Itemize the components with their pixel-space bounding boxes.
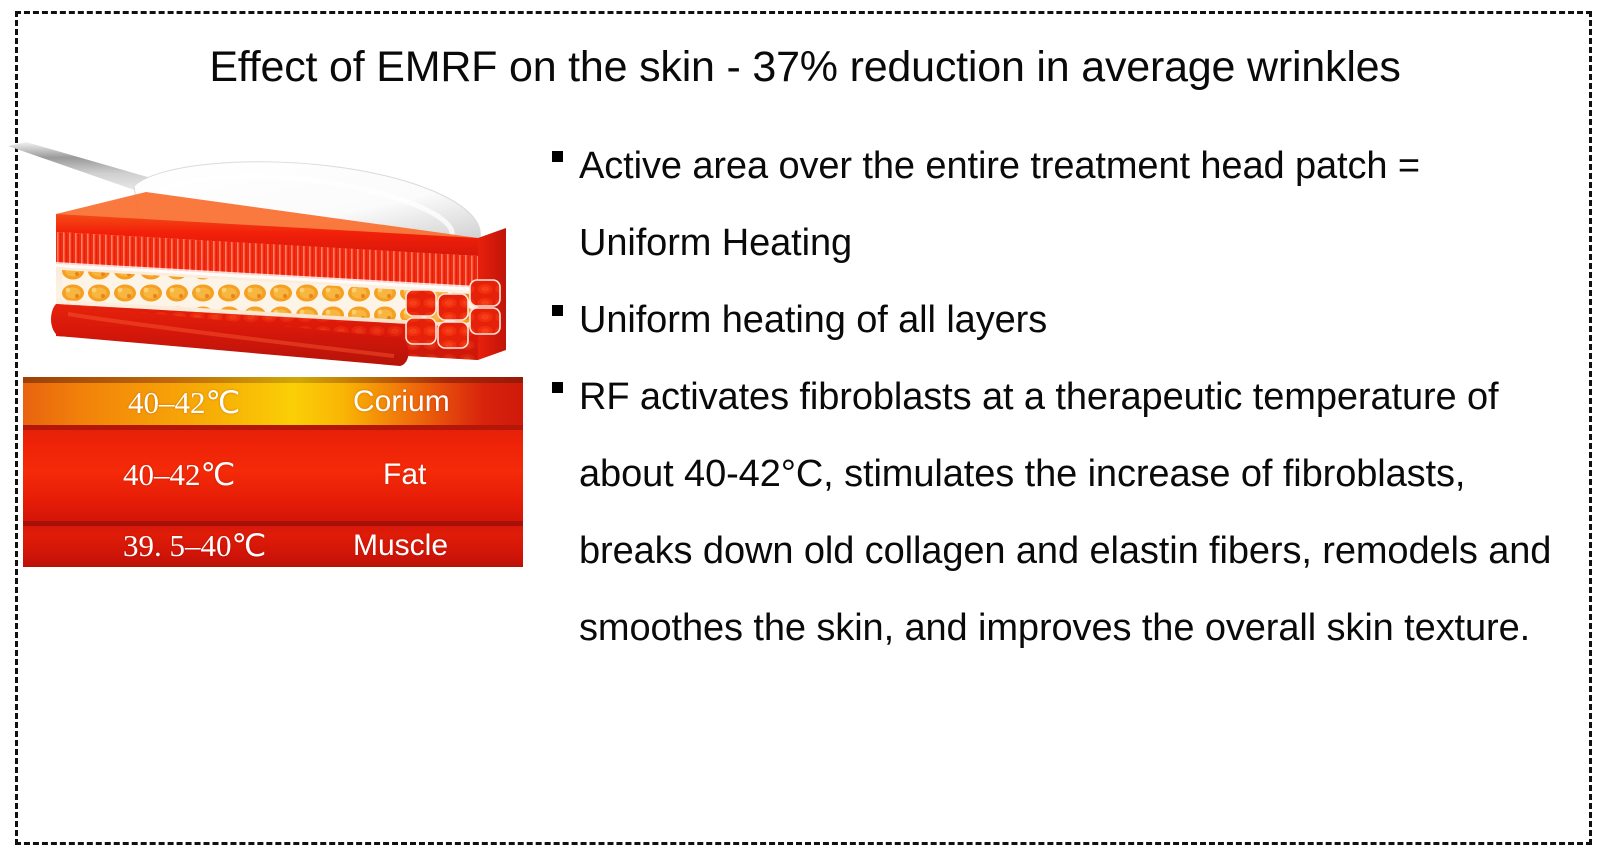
muscle-temperature-value: 39. 5–40℃ xyxy=(123,528,266,564)
skin-cross-section-icon xyxy=(8,128,528,373)
page-title: Effect of EMRF on the skin - 37% reducti… xyxy=(60,44,1550,91)
muscle-layer-label: Muscle xyxy=(353,529,448,563)
fat-temperature-value: 40–42℃ xyxy=(123,457,235,493)
bullet-text-2: Uniform heating of all layers xyxy=(579,282,1562,359)
temperature-band-fat: 40–42℃ Fat xyxy=(23,425,523,521)
slide-canvas: Effect of EMRF on the skin - 37% reducti… xyxy=(0,0,1606,866)
temperature-band-muscle: 39. 5–40℃ Muscle xyxy=(23,521,523,567)
fat-layer-label: Fat xyxy=(383,458,426,492)
list-item: RF activates fibroblasts at a therapeuti… xyxy=(552,359,1562,667)
square-bullet-icon xyxy=(552,382,563,393)
corium-temperature-value: 40–42℃ xyxy=(128,385,240,421)
bullet-text-1: Active area over the entire treatment he… xyxy=(579,128,1562,282)
corium-layer-label: Corium xyxy=(353,385,450,419)
bullet-list: Active area over the entire treatment he… xyxy=(552,128,1562,667)
square-bullet-icon xyxy=(552,305,563,316)
bullet-text-3: RF activates fibroblasts at a therapeuti… xyxy=(579,359,1562,667)
skin-layer-temperature-panel: 40–42℃ Corium 40–42℃ Fat 39. 5–40℃ Muscl… xyxy=(23,377,523,567)
list-item: Uniform heating of all layers xyxy=(552,282,1562,359)
list-item: Active area over the entire treatment he… xyxy=(552,128,1562,282)
temperature-band-corium: 40–42℃ Corium xyxy=(23,377,523,425)
skin-cross-section-figure xyxy=(8,128,528,373)
square-bullet-icon xyxy=(552,151,563,162)
